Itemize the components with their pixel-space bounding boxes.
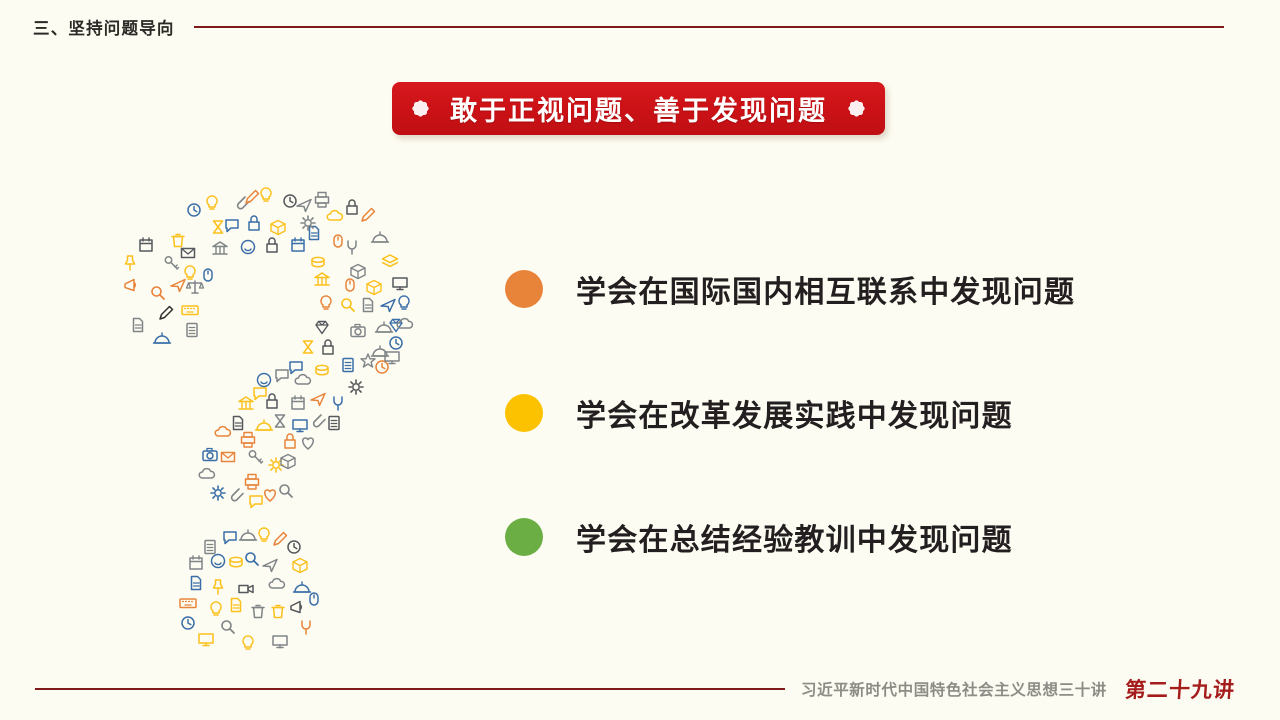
bullet-dot-yellow <box>505 394 543 432</box>
bullet-list: 学会在国际国内相互联系中发现问题 学会在改革发展实践中发现问题 学会在总结经验教… <box>505 258 1205 568</box>
section-title: 三、坚持问题导向 <box>33 15 175 39</box>
section-header: 三、坚持问题导向 <box>0 12 1280 42</box>
flower-ornament-icon-left <box>413 101 428 116</box>
slide-footer: 习近平新时代中国特色社会主义思想三十讲 第二十九讲 <box>0 672 1280 706</box>
bullet-dot-orange <box>505 270 543 308</box>
header-divider-line <box>194 26 1224 28</box>
title-banner-text: 敢于正视问题、善于发现问题 <box>450 89 827 128</box>
question-mark-icon-mosaic <box>100 175 445 650</box>
bullet-text-2: 学会在改革发展实践中发现问题 <box>576 391 1013 435</box>
slide-canvas: 三、坚持问题导向 敢于正视问题、善于发现问题 <box>0 0 1280 720</box>
footer-lecture-number: 第二十九讲 <box>1124 674 1236 704</box>
bullet-item-1: 学会在国际国内相互联系中发现问题 <box>505 258 1205 320</box>
footer-divider-line <box>35 688 785 690</box>
bullet-text-3: 学会在总结经验教训中发现问题 <box>576 515 1013 559</box>
bullet-dot-green <box>505 518 543 556</box>
title-banner: 敢于正视问题、善于发现问题 <box>392 82 885 135</box>
bullet-item-2: 学会在改革发展实践中发现问题 <box>505 382 1205 444</box>
bullet-text-1: 学会在国际国内相互联系中发现问题 <box>576 267 1075 311</box>
footer-series-title: 习近平新时代中国特色社会主义思想三十讲 <box>801 678 1107 700</box>
bullet-item-3: 学会在总结经验教训中发现问题 <box>505 506 1205 568</box>
flower-ornament-icon-right <box>849 101 864 116</box>
